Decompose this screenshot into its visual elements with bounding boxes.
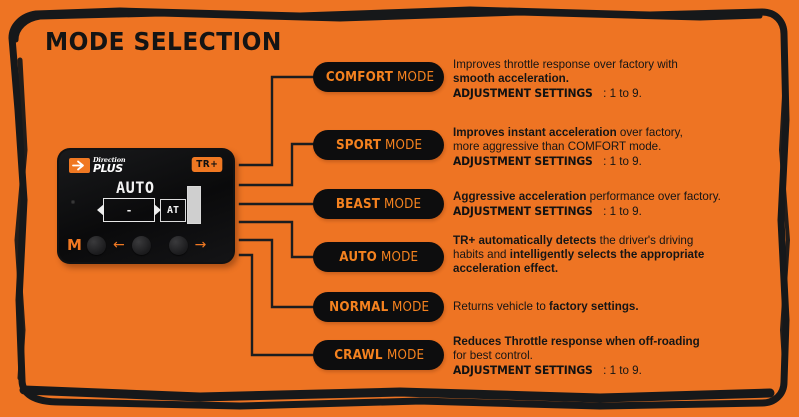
desc-adjustment: ADJUSTMENT SETTINGS: 1 to 9.: [453, 204, 763, 219]
desc-emphasis: intelligently selects the appropriate: [510, 248, 705, 261]
mode-pill-comfort[interactable]: COMFORT MODE: [313, 62, 444, 92]
screen-mode-label: AUTO: [116, 178, 155, 197]
arrow-right-icon-button: →: [195, 238, 207, 252]
desc-emphasis: Improves instant acceleration: [453, 126, 617, 139]
desc-emphasis: smooth acceleration.: [453, 72, 569, 85]
mode-pill-sport[interactable]: SPORT MODE: [313, 130, 444, 160]
throttle-controller-device: Direction PLUS TR+ AUTO - AT M ←: [57, 148, 235, 264]
mode-description-auto: TR+ automatically detects the driver's d…: [453, 234, 753, 277]
adjustment-label: ADJUSTMENT SETTINGS: [453, 86, 593, 100]
adjustment-value: : 1 to 9.: [603, 87, 642, 100]
device-body: Direction PLUS TR+ AUTO - AT M ←: [57, 148, 235, 264]
desc-text: over factory,: [617, 126, 683, 139]
mode-pill-suffix: MODE: [397, 70, 434, 85]
adjustment-label: ADJUSTMENT SETTINGS: [453, 363, 593, 377]
mode-pill-suffix: MODE: [385, 138, 422, 153]
mode-selection-infographic: MODE SELECTION Direction PLUS TR+ AUTO: [0, 0, 799, 417]
desc-text: Returns vehicle to: [453, 300, 549, 313]
mode-pill-suffix: MODE: [384, 197, 421, 212]
adjustment-label: ADJUSTMENT SETTINGS: [453, 204, 593, 218]
desc-line: Aggressive acceleration performance over…: [453, 190, 763, 204]
mode-pill-suffix: MODE: [387, 348, 424, 363]
desc-line: for best control.: [453, 349, 753, 363]
desc-line: more aggressive than COMFORT mode.: [453, 140, 753, 154]
adjustment-value: : 1 to 9.: [603, 155, 642, 168]
desc-text: Improves throttle response over factory …: [453, 58, 678, 71]
device-button-row: M ← →: [67, 234, 225, 256]
tr-plus-badge: TR+: [191, 157, 222, 172]
mode-pill-normal[interactable]: NORMAL MODE: [313, 292, 444, 322]
desc-adjustment: ADJUSTMENT SETTINGS: 1 to 9.: [453, 154, 753, 169]
desc-adjustment: ADJUSTMENT SETTINGS: 1 to 9.: [453, 86, 753, 101]
screen-transmission-box: AT: [160, 199, 186, 222]
mode-description-crawl: Reduces Throttle response when off-roadi…: [453, 335, 753, 379]
desc-emphasis: Aggressive acceleration: [453, 190, 586, 203]
brand-line-2: PLUS: [93, 163, 125, 174]
desc-line: Improves instant acceleration over facto…: [453, 126, 753, 140]
brand-text: Direction PLUS: [93, 157, 125, 174]
mode-pill-suffix: MODE: [381, 250, 418, 265]
desc-text: the driver's driving: [596, 234, 693, 247]
mode-button-label[interactable]: M: [67, 236, 82, 254]
mode-pill-name: CRAWL: [334, 348, 382, 363]
mode-pill-name: SPORT: [336, 138, 381, 153]
increase-button[interactable]: [169, 236, 188, 255]
desc-emphasis: TR+ automatically detects: [453, 234, 596, 247]
mode-pill-name: COMFORT: [326, 70, 393, 85]
screen-controls-row: - AT: [103, 198, 186, 222]
mode-description-comfort: Improves throttle response over factory …: [453, 58, 753, 102]
mode-pill-auto[interactable]: AUTO MODE: [313, 242, 444, 272]
desc-line: acceleration effect.: [453, 262, 753, 276]
desc-emphasis: Reduces Throttle response when off-roadi…: [453, 335, 700, 348]
mode-pill-name: NORMAL: [329, 300, 388, 315]
mode-description-sport: Improves instant acceleration over facto…: [453, 126, 753, 170]
desc-text: habits and: [453, 248, 510, 261]
desc-emphasis: acceleration effect.: [453, 262, 558, 275]
desc-line: TR+ automatically detects the driver's d…: [453, 234, 753, 248]
desc-line: smooth acceleration.: [453, 72, 753, 86]
screen-level-box: -: [103, 198, 155, 222]
status-led-icon: [71, 200, 75, 204]
arrow-left-icon: ←: [113, 238, 125, 252]
mode-pill-beast[interactable]: BEAST MODE: [313, 189, 444, 219]
brand-logo: Direction PLUS: [69, 157, 125, 174]
adjustment-value: : 1 to 9.: [603, 364, 642, 377]
desc-line: Reduces Throttle response when off-roadi…: [453, 335, 753, 349]
desc-line: Improves throttle response over factory …: [453, 58, 753, 72]
desc-line: habits and intelligently selects the app…: [453, 248, 753, 262]
mode-description-beast: Aggressive acceleration performance over…: [453, 190, 763, 219]
device-screen: AUTO - AT: [103, 178, 203, 228]
mode-pill-name: AUTO: [339, 250, 377, 265]
mode-description-normal: Returns vehicle to factory settings.: [453, 300, 753, 314]
adjustment-value: : 1 to 9.: [603, 205, 642, 218]
screen-level-bar: [187, 186, 201, 224]
mode-pill-suffix: MODE: [392, 300, 429, 315]
desc-text: for best control.: [453, 349, 533, 362]
desc-text: performance over factory.: [586, 190, 720, 203]
decrease-button[interactable]: [132, 236, 151, 255]
mode-pill-crawl[interactable]: CRAWL MODE: [313, 340, 444, 370]
mode-pill-name: BEAST: [336, 197, 380, 212]
mode-button[interactable]: [87, 236, 106, 255]
arrow-right-icon: [69, 158, 90, 173]
page-title: MODE SELECTION: [45, 27, 282, 56]
desc-adjustment: ADJUSTMENT SETTINGS: 1 to 9.: [453, 363, 753, 378]
desc-text: more aggressive than COMFORT mode.: [453, 140, 661, 153]
adjustment-label: ADJUSTMENT SETTINGS: [453, 154, 593, 168]
desc-emphasis: factory settings.: [549, 300, 639, 313]
desc-line: Returns vehicle to factory settings.: [453, 300, 753, 314]
